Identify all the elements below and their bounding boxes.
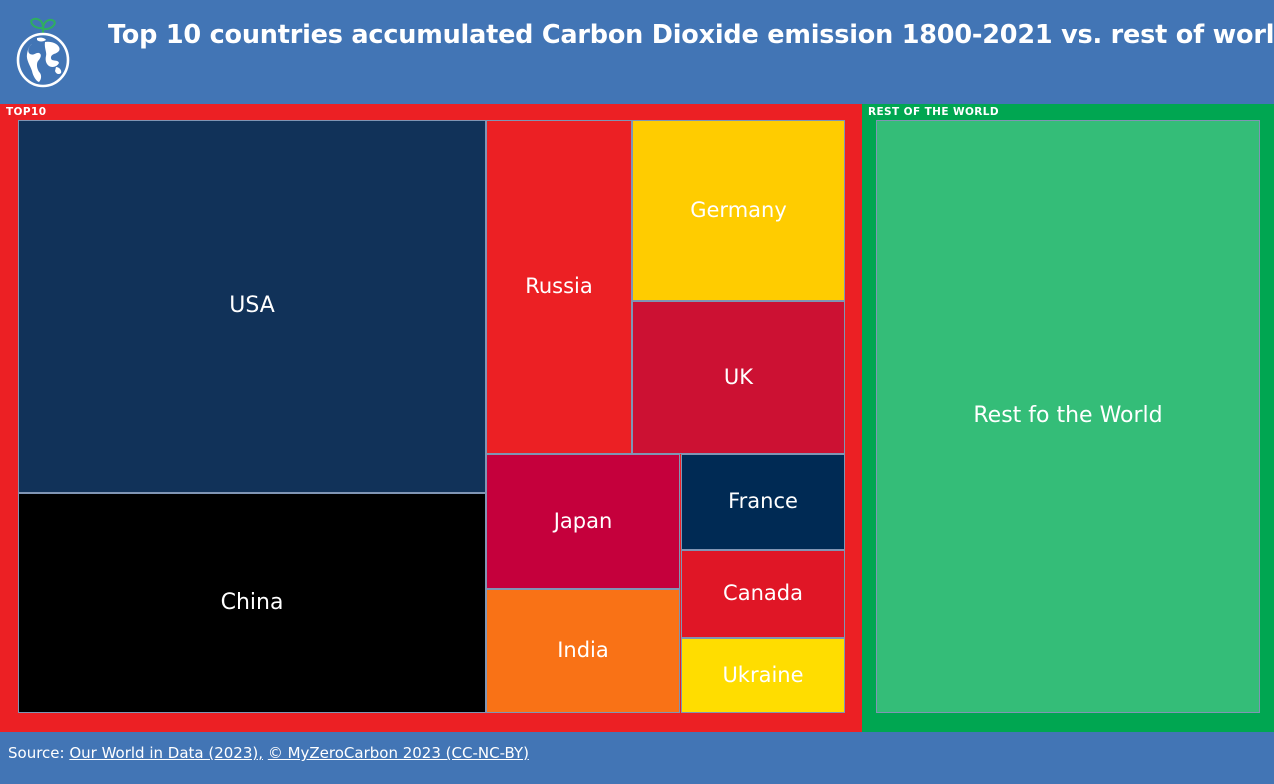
- source-link-our-world-in-data[interactable]: Our World in Data (2023),: [69, 744, 263, 762]
- treemap-tile-ukraine[interactable]: Ukraine: [681, 638, 845, 713]
- treemap-tile-label: USA: [229, 294, 275, 318]
- treemap-tile-label: Russia: [525, 275, 593, 298]
- treemap-tile-label: Rest fo the World: [973, 404, 1162, 428]
- treemap-tile-canada[interactable]: Canada: [681, 550, 845, 638]
- page-title: Top 10 countries accumulated Carbon Diox…: [108, 20, 1258, 50]
- treemap-tile-rest-fo-the-world[interactable]: Rest fo the World: [876, 120, 1260, 713]
- treemap-tile-label: France: [728, 490, 798, 513]
- source-line: Source: Our World in Data (2023), © MyZe…: [8, 744, 529, 762]
- treemap-tile-label: China: [221, 591, 284, 615]
- treemap-tile-usa[interactable]: USA: [18, 120, 486, 493]
- treemap-tile-india[interactable]: India: [486, 589, 680, 713]
- treemap-tile-germany[interactable]: Germany: [632, 120, 845, 301]
- treemap-tile-label: UK: [724, 366, 753, 389]
- treemap-tile-label: Germany: [690, 199, 787, 222]
- treemap-tile-label: Ukraine: [722, 664, 803, 687]
- panel-rest-of-world-label: REST OF THE WORLD: [868, 106, 999, 118]
- treemap-tile-label: Canada: [723, 582, 803, 605]
- treemap-tile-russia[interactable]: Russia: [486, 120, 632, 454]
- treemap-tile-uk[interactable]: UK: [632, 301, 845, 454]
- treemap-tile-label: Japan: [554, 510, 613, 533]
- globe-sprout-logo: [12, 12, 74, 92]
- treemap-tile-label: India: [557, 639, 609, 662]
- source-link-myzerocarbon[interactable]: © MyZeroCarbon 2023 (CC-NC-BY): [268, 744, 529, 762]
- panel-top10-label: TOP10: [6, 106, 46, 118]
- treemap-tile-japan[interactable]: Japan: [486, 454, 680, 589]
- treemap-tile-china[interactable]: China: [18, 493, 486, 713]
- header-bar: Top 10 countries accumulated Carbon Diox…: [0, 0, 1274, 104]
- source-label: Source:: [8, 744, 69, 762]
- treemap-tile-france[interactable]: France: [681, 454, 845, 550]
- footer-bar: Source: Our World in Data (2023), © MyZe…: [0, 732, 1274, 784]
